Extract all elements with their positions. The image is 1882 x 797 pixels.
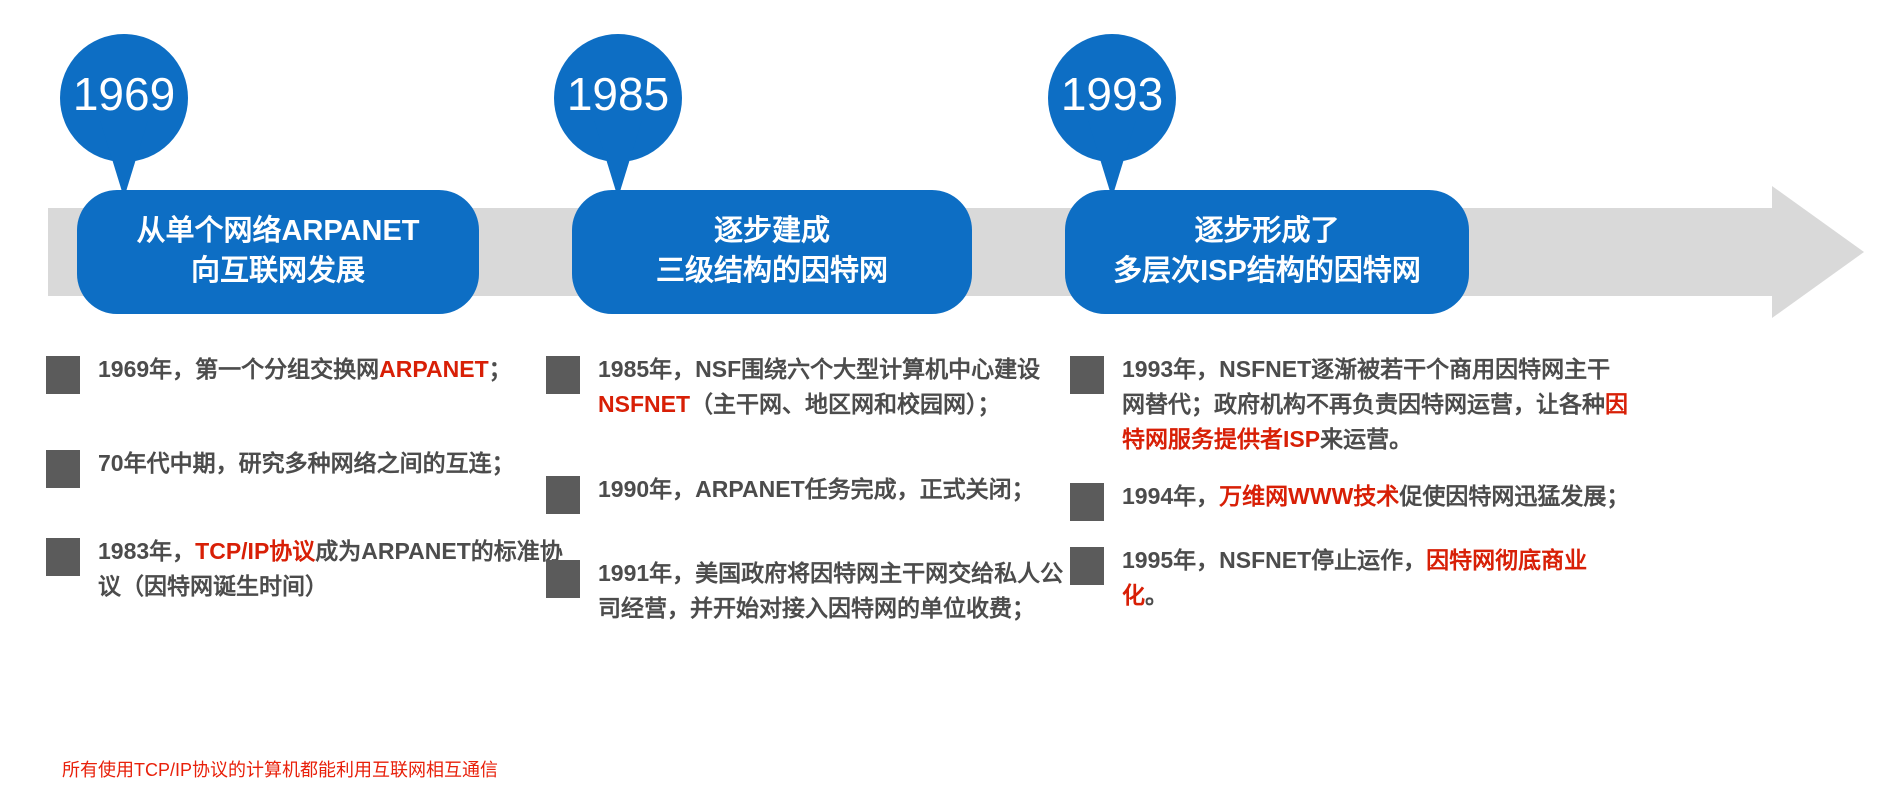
bullet-square-icon: [46, 450, 80, 488]
bullet-text-highlight: 万维网WWW技术: [1219, 483, 1399, 509]
year-pin-1993[interactable]: 1993: [1048, 34, 1176, 194]
bullet-square-icon: [1070, 483, 1104, 521]
bullet-square-icon: [46, 356, 80, 394]
bullet-square-icon: [546, 356, 580, 394]
stage-header-line2: 三级结构的因特网: [656, 253, 888, 291]
bullet-list-column-1: 1969年，第一个分组交换网ARPANET；70年代中期，研究多种网络之间的互连…: [46, 352, 566, 632]
bullet-text-plain: 促使因特网迅猛发展；: [1399, 483, 1629, 509]
bullet-item: 1985年，NSF围绕六个大型计算机中心建设NSFNET（主干网、地区网和校园网…: [546, 352, 1066, 422]
bullet-list-column-2: 1985年，NSF围绕六个大型计算机中心建设NSFNET（主干网、地区网和校园网…: [546, 352, 1066, 654]
bullet-item: 1995年，NSFNET停止运作，因特网彻底商业化。: [1070, 543, 1630, 613]
bullet-square-icon: [46, 538, 80, 576]
bullet-text: 1990年，ARPANET任务完成，正式关闭；: [598, 472, 1035, 507]
stage-header-3[interactable]: 逐步形成了 多层次ISP结构的因特网: [1065, 190, 1469, 314]
stage-header-line1: 逐步形成了: [1194, 213, 1339, 251]
bullet-text-highlight: ARPANET: [379, 356, 488, 382]
bullet-text-plain: 1995年，NSFNET停止运作，: [1122, 547, 1426, 573]
bullet-text: 1995年，NSFNET停止运作，因特网彻底商业化。: [1122, 543, 1630, 613]
year-pin-1985[interactable]: 1985: [554, 34, 682, 194]
bullet-item: 1993年，NSFNET逐渐被若干个商用因特网主干网替代；政府机构不再负责因特网…: [1070, 352, 1630, 457]
bullet-text: 70年代中期，研究多种网络之间的互连；: [98, 446, 515, 481]
bullet-text-plain: ；: [489, 356, 512, 382]
bullet-square-icon: [1070, 547, 1104, 585]
stage-header-line1: 逐步建成: [714, 213, 830, 251]
bullet-text-plain: 1994年，: [1122, 483, 1219, 509]
bullet-text: 1983年，TCP/IP协议成为ARPANET的标准协议（因特网诞生时间）: [98, 534, 566, 604]
bullet-text-highlight: TCP/IP协议: [195, 538, 315, 564]
bullet-text-plain: 1969年，第一个分组交换网: [98, 356, 379, 382]
year-label: 1993: [1048, 34, 1176, 154]
bullet-square-icon: [1070, 356, 1104, 394]
bullet-text: 1985年，NSF围绕六个大型计算机中心建设NSFNET（主干网、地区网和校园网…: [598, 352, 1066, 422]
bullet-text-plain: 1985年，NSF围绕六个大型计算机中心建设: [598, 356, 1040, 382]
bullet-text-plain: 1991年，美国政府将因特网主干网交给私人公司经营，并开始对接入因特网的单位收费…: [598, 560, 1063, 621]
bullet-item: 70年代中期，研究多种网络之间的互连；: [46, 446, 566, 488]
stage-header-line2: 多层次ISP结构的因特网: [1113, 253, 1421, 291]
bullet-square-icon: [546, 476, 580, 514]
bullet-text-plain: 70年代中期，研究多种网络之间的互连；: [98, 450, 515, 476]
bullet-text: 1993年，NSFNET逐渐被若干个商用因特网主干网替代；政府机构不再负责因特网…: [1122, 352, 1630, 457]
bullet-item: 1983年，TCP/IP协议成为ARPANET的标准协议（因特网诞生时间）: [46, 534, 566, 604]
stage-header-line2: 向互联网发展: [191, 253, 365, 291]
bullet-text-plain: （主干网、地区网和校园网）；: [690, 391, 1001, 417]
bullet-item: 1990年，ARPANET任务完成，正式关闭；: [546, 472, 1066, 514]
year-label: 1969: [60, 34, 188, 154]
bullet-text-plain: 1990年，ARPANET任务完成，正式关闭；: [598, 476, 1035, 502]
bullet-text: 1994年，万维网WWW技术促使因特网迅猛发展；: [1122, 479, 1629, 514]
footnote-annotation: 所有使用TCP/IP协议的计算机都能利用互联网相互通信: [62, 760, 498, 782]
bullet-text-plain: 1993年，NSFNET逐渐被若干个商用因特网主干网替代；政府机构不再负责因特网…: [1122, 356, 1610, 417]
bullet-square-icon: [546, 560, 580, 598]
bullet-text-plain: 1983年，: [98, 538, 195, 564]
year-pin-1969[interactable]: 1969: [60, 34, 188, 194]
stage-header-1[interactable]: 从单个网络ARPANET 向互联网发展: [77, 190, 479, 314]
bullet-item: 1969年，第一个分组交换网ARPANET；: [46, 352, 566, 394]
bullet-item: 1994年，万维网WWW技术促使因特网迅猛发展；: [1070, 479, 1630, 521]
timeline-diagram: 1969 1985 1993 从单个网络ARPANET 向互联网发展 逐步建成 …: [0, 0, 1882, 797]
stage-header-line1: 从单个网络ARPANET: [136, 213, 419, 251]
bullet-item: 1991年，美国政府将因特网主干网交给私人公司经营，并开始对接入因特网的单位收费…: [546, 556, 1066, 626]
bullet-text: 1991年，美国政府将因特网主干网交给私人公司经营，并开始对接入因特网的单位收费…: [598, 556, 1066, 626]
year-label: 1985: [554, 34, 682, 154]
bullet-text-plain: 来运营。: [1320, 426, 1412, 452]
bullet-text: 1969年，第一个分组交换网ARPANET；: [98, 352, 512, 387]
bullet-text-plain: 。: [1145, 582, 1168, 608]
stage-header-2[interactable]: 逐步建成 三级结构的因特网: [572, 190, 972, 314]
bullet-list-column-3: 1993年，NSFNET逐渐被若干个商用因特网主干网替代；政府机构不再负责因特网…: [1070, 352, 1630, 641]
bullet-text-highlight: NSFNET: [598, 391, 690, 417]
timeline-arrow-head-icon: [1772, 186, 1864, 318]
